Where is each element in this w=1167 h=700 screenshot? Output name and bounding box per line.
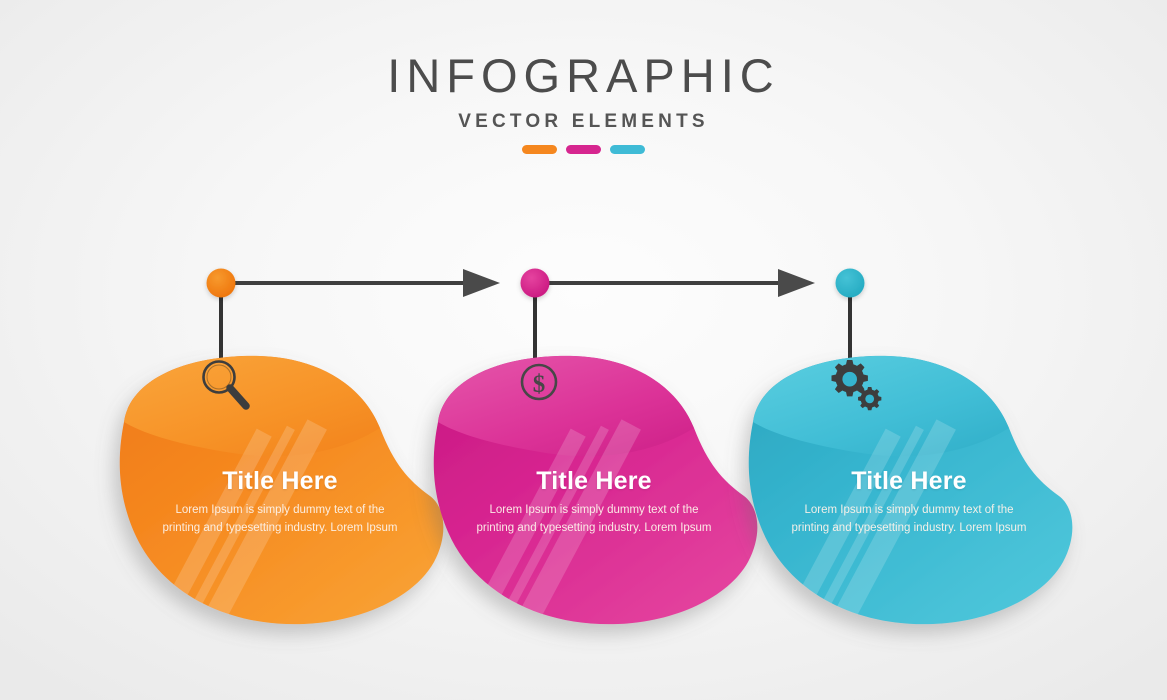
step-node-3[interactable] [836,269,865,298]
card-shape-cyan [737,330,1077,630]
step-node-2[interactable] [521,269,550,298]
infographic-canvas: INFOGRAPHIC VECTOR ELEMENTS [0,0,1167,700]
flow-arrow-1-2 [463,269,500,297]
accent-pill-orange [522,145,557,154]
flow-arrow-2-3 [778,269,815,297]
card-shape-orange [108,330,448,630]
info-card-cyan[interactable]: Title Here Lorem Ipsum is simply dummy t… [737,330,1077,630]
gears-icon [823,354,887,414]
card-shape-magenta [422,330,762,630]
magnifier-icon [194,354,258,414]
accent-pill-magenta [566,145,601,154]
step-node-1[interactable] [207,269,236,298]
info-card-magenta[interactable]: $ Title Here Lorem Ipsum is simply dummy… [422,330,762,630]
header: INFOGRAPHIC VECTOR ELEMENTS [0,52,1167,154]
accent-pill-cyan [610,145,645,154]
dollar-circle-icon: $ [508,354,572,414]
gear-small-icon [858,387,881,410]
info-card-orange[interactable]: Title Here Lorem Ipsum is simply dummy t… [108,330,448,630]
svg-text:$: $ [533,371,546,398]
page-subtitle: VECTOR ELEMENTS [0,112,1167,131]
accent-pill-row [0,145,1167,154]
page-title: INFOGRAPHIC [0,52,1167,99]
